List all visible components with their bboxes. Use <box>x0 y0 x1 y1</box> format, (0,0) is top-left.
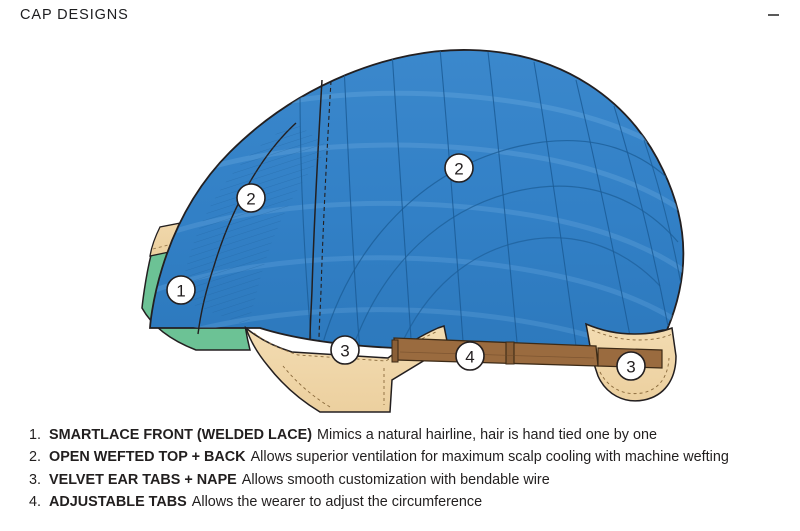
page-title: CAP DESIGNS <box>20 7 129 23</box>
legend-item-2-description: Allows superior ventilation for maximum … <box>251 446 729 468</box>
legend-item-3-number: 3. <box>22 469 49 491</box>
callout-marker-3-nape-label: 3 <box>626 358 635 377</box>
callout-marker-4-strap-label: 4 <box>465 348 474 367</box>
legend-item-1: 1. SMARTLACE FRONT (WELDED LACE) Mimics … <box>22 424 778 446</box>
feature-legend-list: 1. SMARTLACE FRONT (WELDED LACE) Mimics … <box>22 424 778 514</box>
panel-header: CAP DESIGNS <box>0 0 800 30</box>
cap-diagram: 1 2 2 3 4 3 <box>0 28 800 418</box>
minus-icon-bar <box>768 14 779 16</box>
legend-item-4: 4. ADJUSTABLE TABS Allows the wearer to … <box>22 491 778 513</box>
callout-marker-3-ear[interactable]: 3 <box>331 336 359 364</box>
legend-item-2-number: 2. <box>22 446 49 468</box>
legend-item-1-description: Mimics a natural hairline, hair is hand … <box>317 424 657 446</box>
legend-item-1-term: SMARTLACE FRONT (WELDED LACE) <box>49 424 317 446</box>
legend-item-3: 3. VELVET EAR TABS + NAPE Allows smooth … <box>22 469 778 491</box>
legend-item-4-term: ADJUSTABLE TABS <box>49 491 192 513</box>
callout-marker-3-ear-label: 3 <box>340 342 349 361</box>
callout-marker-1-label: 1 <box>176 282 185 301</box>
callout-marker-4-strap[interactable]: 4 <box>456 342 484 370</box>
callout-marker-1[interactable]: 1 <box>167 276 195 304</box>
minus-icon[interactable] <box>764 6 782 24</box>
cap-designs-page: CAP DESIGNS <box>0 0 800 531</box>
callout-marker-2-top[interactable]: 2 <box>445 154 473 182</box>
callout-marker-2-front-label: 2 <box>246 190 255 209</box>
legend-item-4-description: Allows the wearer to adjust the circumfe… <box>192 491 482 513</box>
legend-item-2-term: OPEN WEFTED TOP + BACK <box>49 446 251 468</box>
callout-marker-2-front[interactable]: 2 <box>237 184 265 212</box>
legend-item-4-number: 4. <box>22 491 49 513</box>
callout-marker-3-nape[interactable]: 3 <box>617 352 645 380</box>
legend-item-2: 2. OPEN WEFTED TOP + BACK Allows superio… <box>22 446 778 468</box>
legend-item-3-description: Allows smooth customization with bendabl… <box>242 469 550 491</box>
legend-item-1-number: 1. <box>22 424 49 446</box>
callout-marker-2-top-label: 2 <box>454 160 463 179</box>
legend-item-3-term: VELVET EAR TABS + NAPE <box>49 469 242 491</box>
